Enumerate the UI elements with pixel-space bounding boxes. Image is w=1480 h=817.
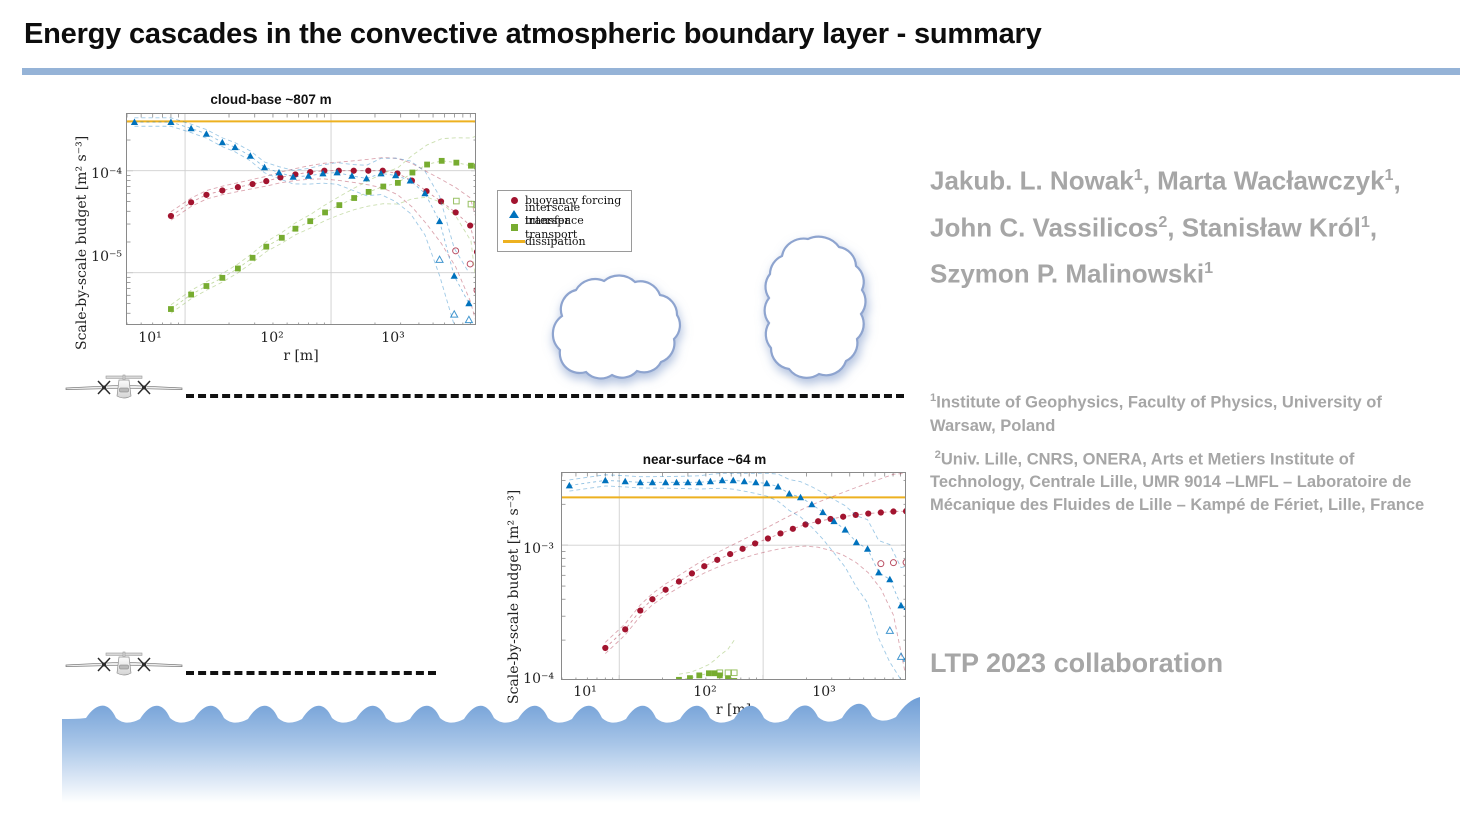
airplane-front-icon <box>62 368 186 404</box>
affiliation-2: 2Univ. Lille, CNRS, ONERA, Arts et Metie… <box>930 444 1450 518</box>
chart2-plot-area <box>561 472 906 680</box>
chart1-title: cloud-base ~807 m <box>56 92 486 107</box>
airplane-front-icon <box>62 645 186 681</box>
near-surface-chart: near-surface ~64 m Scale-by-scale budget… <box>492 452 917 717</box>
affiliations-block: 1Institute of Geophysics, Faculty of Phy… <box>930 387 1450 517</box>
triangle-marker-icon <box>503 210 525 218</box>
chart1-xtick-1000: 10³ <box>371 330 415 346</box>
chart1-xtick-10: 10¹ <box>128 330 172 346</box>
chart1-xlabel: r [m] <box>126 348 476 364</box>
author-line-2a: Wacławczyk <box>1234 166 1385 196</box>
affiliation-2-text: Univ. Lille, CNRS, ONERA, Arts et Metier… <box>930 450 1424 514</box>
author-sup-5: 1 <box>1204 259 1213 277</box>
authors-block: Jakub. L. Nowak1, Marta Wacławczyk1, Joh… <box>930 155 1450 295</box>
chart1-plot-area <box>126 113 476 325</box>
author-sup-3: 2 <box>1158 213 1167 231</box>
title-divider <box>22 68 1460 75</box>
near-surface-dashed-line <box>186 671 436 675</box>
cloud-icon <box>534 235 714 415</box>
author-line-4a: Malinowski <box>1065 259 1204 289</box>
author-sup-2: 1 <box>1385 166 1394 184</box>
chart1-ytick-1e-4: 10⁻⁴ <box>82 166 122 182</box>
affiliation-1-text: Institute of Geophysics, Faculty of Phys… <box>930 394 1382 435</box>
collaboration-label: LTP 2023 collaboration <box>930 648 1450 679</box>
author-sup-1: 1 <box>1134 166 1143 184</box>
author-line-1a: Jakub. L. Nowak <box>930 166 1134 196</box>
chart2-title: near-surface ~64 m <box>492 452 917 467</box>
cloud-base-chart: cloud-base ~807 m Scale-by-scale budget … <box>56 92 486 362</box>
affiliation-1: 1Institute of Geophysics, Faculty of Phy… <box>930 387 1450 438</box>
author-line-2c: , <box>1167 212 1174 242</box>
cloud-icon <box>742 228 902 418</box>
legend-item-interspace: interspace transport <box>503 221 624 235</box>
chart1-ytick-1e-5: 10⁻⁵ <box>82 249 122 265</box>
square-marker-icon <box>503 224 525 231</box>
author-line-1b: , Marta <box>1143 166 1227 196</box>
chart1-xtick-100: 10² <box>250 330 294 346</box>
circle-marker-icon <box>503 197 525 204</box>
chart2-ytick-1e-3: 10⁻³ <box>514 541 554 557</box>
sea-waves-icon <box>62 693 920 803</box>
author-line-3a: Stanisław Król <box>1182 212 1361 242</box>
author-sup-4: 1 <box>1361 213 1370 231</box>
page-title: Energy cascades in the convective atmosp… <box>24 18 1424 51</box>
chart2-ytick-1e-4: 10⁻⁴ <box>514 671 554 687</box>
line-marker-icon <box>503 240 525 243</box>
